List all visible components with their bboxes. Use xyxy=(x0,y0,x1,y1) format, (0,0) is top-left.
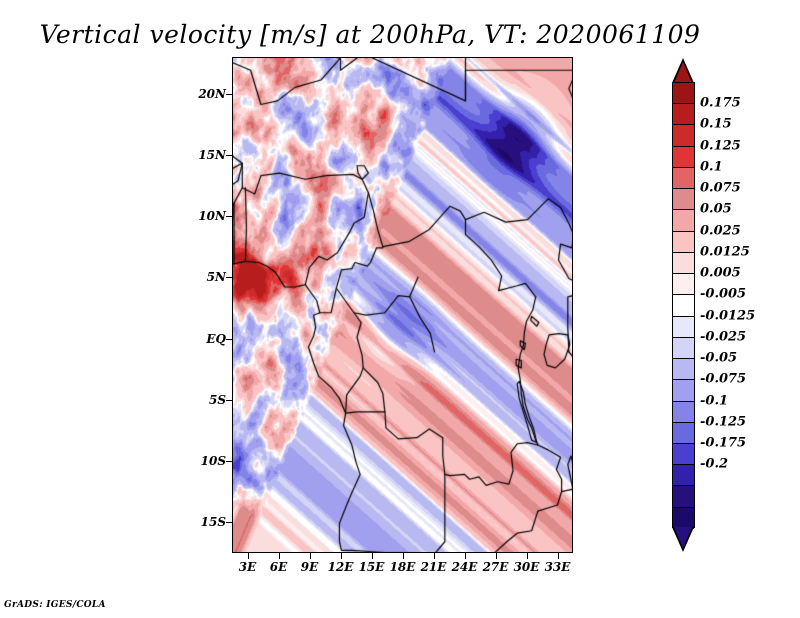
colorbar-label-0: 0.175 xyxy=(700,96,741,111)
colorbar-band-12 xyxy=(673,338,694,359)
colorbar-label-2: 0.125 xyxy=(700,138,741,153)
lat-label-20n: 20N xyxy=(198,87,226,101)
colorbar-band-stack xyxy=(672,82,695,528)
lon-tick-18e xyxy=(403,553,404,559)
lat-tick-20n xyxy=(226,94,232,95)
colorbar-tick-labels: 0.1750.150.1250.10.0750.050.0250.01250.0… xyxy=(700,58,798,552)
lat-label-10n: 10N xyxy=(198,209,226,223)
colorbar-label-8: 0.005 xyxy=(700,266,741,281)
colorbar-band-9 xyxy=(673,274,694,295)
colorbar[interactable] xyxy=(671,58,697,552)
colorbar-label-1: 0.15 xyxy=(700,117,732,132)
colorbar-band-14 xyxy=(673,380,694,401)
lon-tick-24e xyxy=(465,553,466,559)
lon-label-3e: 3E xyxy=(239,560,257,574)
colorbar-band-10 xyxy=(673,295,694,316)
latitude-axis: 20N15N10N5NEQ5S10S15S xyxy=(180,57,226,553)
colorbar-band-0 xyxy=(673,83,694,104)
colorbar-band-1 xyxy=(673,104,694,125)
lon-label-9e: 9E xyxy=(301,560,319,574)
colorbar-band-2 xyxy=(673,125,694,146)
colorbar-label-13: -0.075 xyxy=(700,372,746,387)
lon-tick-21e xyxy=(434,553,435,559)
lon-tick-15e xyxy=(372,553,373,559)
colorbar-label-17: -0.2 xyxy=(700,457,728,472)
lon-tick-30e xyxy=(527,553,528,559)
colorbar-label-3: 0.1 xyxy=(700,159,723,174)
footer-credit: GrADS: IGES/COLA xyxy=(4,600,106,610)
lon-tick-33e xyxy=(558,553,559,559)
colorbar-band-7 xyxy=(673,232,694,253)
colorbar-label-15: -0.125 xyxy=(700,414,746,429)
lat-label-15n: 15N xyxy=(198,148,226,162)
longitude-axis: 3E6E9E12E15E18E21E24E27E30E33E xyxy=(0,560,800,578)
lon-label-24e: 24E xyxy=(452,560,478,574)
country-borders-overlay xyxy=(233,58,573,553)
lon-tick-6e xyxy=(279,553,280,559)
lat-tick-10n xyxy=(226,216,232,217)
colorbar-band-17 xyxy=(673,444,694,465)
lat-tick-eq xyxy=(226,339,232,340)
lon-label-27e: 27E xyxy=(483,560,509,574)
lon-tick-12e xyxy=(341,553,342,559)
lat-tick-5s xyxy=(226,400,232,401)
lon-tick-9e xyxy=(310,553,311,559)
lon-label-18e: 18E xyxy=(390,560,416,574)
colorbar-band-13 xyxy=(673,359,694,380)
colorbar-label-12: -0.05 xyxy=(700,351,737,366)
lon-tick-3e xyxy=(248,553,249,559)
lat-tick-5n xyxy=(226,277,232,278)
colorbar-band-20 xyxy=(673,508,694,529)
colorbar-band-6 xyxy=(673,210,694,231)
colorbar-band-11 xyxy=(673,317,694,338)
lat-label-5n: 5N xyxy=(207,270,226,284)
colorbar-label-16: -0.175 xyxy=(700,436,746,451)
colorbar-band-3 xyxy=(673,147,694,168)
colorbar-arrow-up-fill-icon xyxy=(674,62,692,83)
lon-label-6e: 6E xyxy=(270,560,288,574)
lon-label-30e: 30E xyxy=(514,560,540,574)
lat-label-eq: EQ xyxy=(206,332,226,346)
lon-tick-27e xyxy=(496,553,497,559)
colorbar-band-19 xyxy=(673,486,694,507)
colorbar-band-15 xyxy=(673,402,694,423)
page-title: Vertical velocity [m/s] at 200hPa, VT: 2… xyxy=(0,20,740,49)
colorbar-label-14: -0.1 xyxy=(700,393,728,408)
map-plot-area[interactable] xyxy=(232,57,573,553)
lat-label-10s: 10S xyxy=(201,454,226,468)
colorbar-label-11: -0.025 xyxy=(700,329,746,344)
colorbar-label-6: 0.025 xyxy=(700,223,741,238)
colorbar-band-16 xyxy=(673,423,694,444)
lat-label-15s: 15S xyxy=(201,515,226,529)
lon-label-33e: 33E xyxy=(545,560,571,574)
colorbar-band-18 xyxy=(673,465,694,486)
lon-label-15e: 15E xyxy=(359,560,385,574)
lat-tick-10s xyxy=(226,461,232,462)
lat-label-5s: 5S xyxy=(209,393,226,407)
colorbar-band-4 xyxy=(673,168,694,189)
colorbar-label-7: 0.0125 xyxy=(700,244,750,259)
colorbar-label-9: -0.005 xyxy=(700,287,746,302)
lat-tick-15n xyxy=(226,155,232,156)
colorbar-label-10: -0.0125 xyxy=(700,308,755,323)
colorbar-arrow-down-fill-icon xyxy=(674,527,692,548)
colorbar-band-5 xyxy=(673,189,694,210)
colorbar-band-8 xyxy=(673,253,694,274)
colorbar-label-5: 0.05 xyxy=(700,202,732,217)
colorbar-label-4: 0.075 xyxy=(700,181,741,196)
lon-label-21e: 21E xyxy=(421,560,447,574)
lat-tick-15s xyxy=(226,522,232,523)
lon-label-12e: 12E xyxy=(328,560,354,574)
